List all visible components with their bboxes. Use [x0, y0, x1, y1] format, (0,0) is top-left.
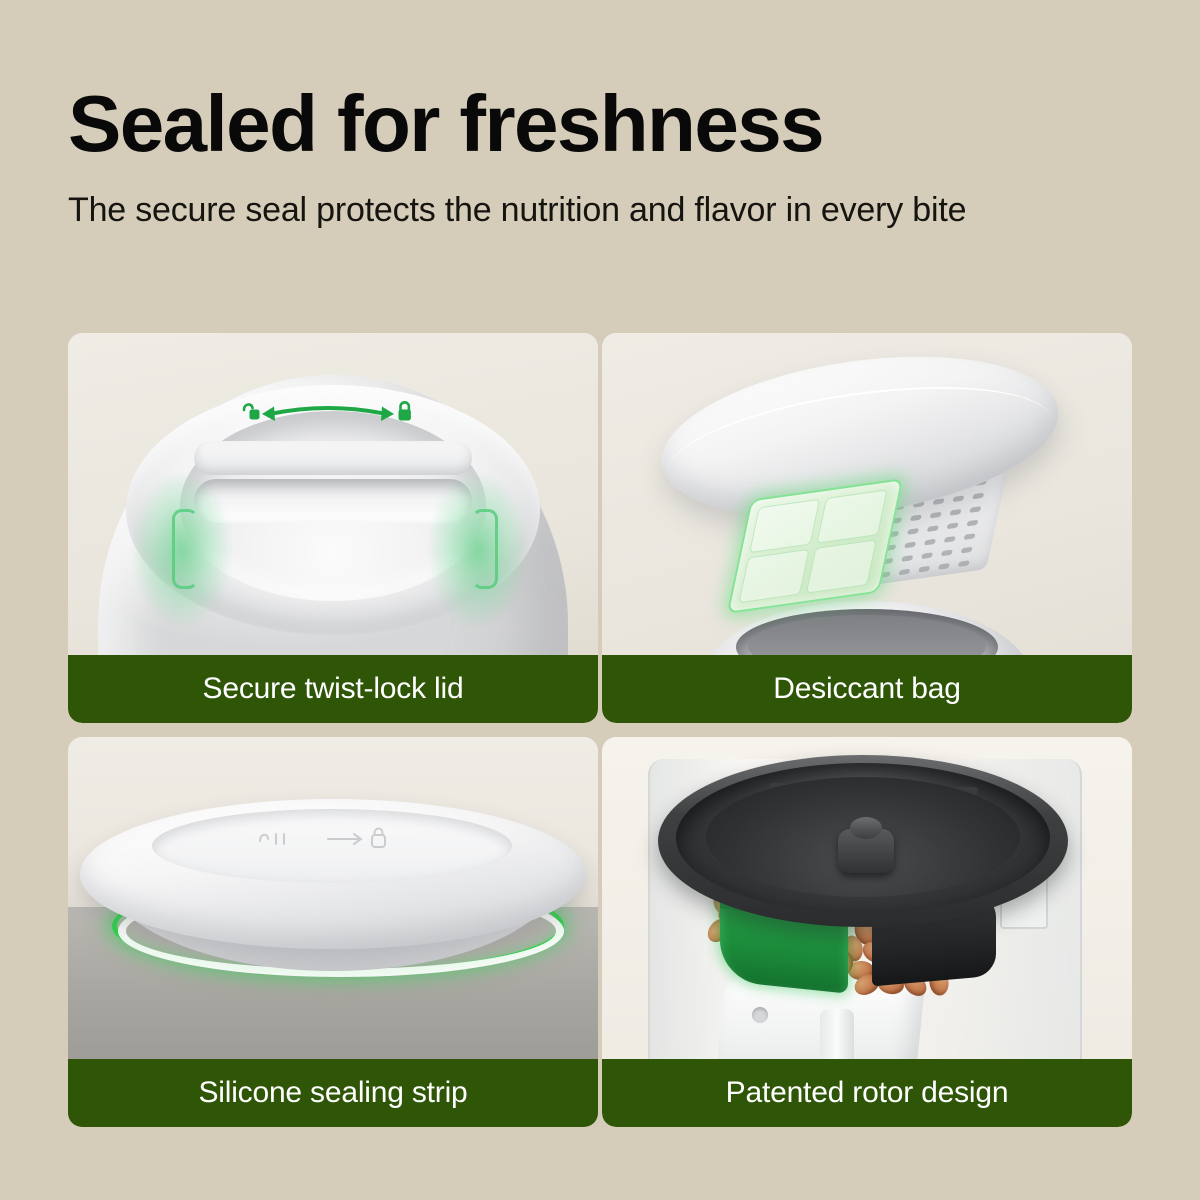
feature-grid: Secure twist-lock lid	[68, 333, 1132, 1133]
desiccant-cell	[738, 549, 809, 603]
lock-indicator-row	[238, 397, 418, 431]
curved-double-arrow	[262, 407, 394, 422]
caption-label: Desiccant bag	[773, 672, 961, 706]
perforation-slot	[966, 520, 978, 527]
desiccant-cell	[806, 539, 877, 593]
caption-label: Silicone sealing strip	[198, 1076, 467, 1110]
perforation-slot	[941, 550, 953, 557]
perforation-slot	[898, 569, 910, 576]
lid-handle-upper-shape	[194, 441, 472, 475]
page-title: Sealed for freshness	[68, 84, 1088, 164]
unlock-icon	[244, 404, 253, 410]
desiccant-cell	[749, 499, 820, 553]
rotor-hub-cap	[850, 817, 882, 839]
perforation-slot	[952, 495, 964, 502]
caption-bar-secure-twist-lock-lid: Secure twist-lock lid	[68, 655, 598, 723]
perforation-slot	[910, 515, 922, 522]
caption-bar-patented-rotor-design: Patented rotor design	[602, 1059, 1132, 1127]
feature-card-silicone-sealing-strip: Silicone sealing strip	[68, 737, 598, 1127]
perforation-slot	[969, 506, 981, 513]
feature-card-patented-rotor-design: Patented rotor design	[602, 737, 1132, 1127]
caption-bar-desiccant-bag: Desiccant bag	[602, 655, 1132, 723]
feature-card-desiccant-bag: Desiccant bag	[602, 333, 1132, 723]
header-block: Sealed for freshness The secure seal pro…	[68, 84, 1088, 233]
desiccant-cell	[816, 489, 887, 543]
perforation-slot	[904, 542, 916, 549]
perforation-slot	[901, 555, 913, 562]
feature-card-secure-twist-lock-lid: Secure twist-lock lid	[68, 333, 598, 723]
caption-bar-silicone-sealing-strip: Silicone sealing strip	[68, 1059, 598, 1127]
twist-direction-arrow-icon	[238, 397, 418, 431]
perforation-slot	[958, 560, 970, 567]
perforation-slot	[918, 566, 930, 573]
perforation-slot	[972, 493, 984, 500]
perforation-slot	[944, 536, 956, 543]
perforation-slot	[933, 498, 945, 505]
embossed-lock-symbols-icon	[254, 825, 414, 851]
twist-tab-right	[472, 509, 498, 589]
perforation-slot	[930, 512, 942, 519]
perforation-slot	[961, 547, 973, 554]
lock-icon	[399, 402, 411, 420]
caption-label: Patented rotor design	[726, 1076, 1009, 1110]
page-subtitle: The secure seal protects the nutrition a…	[68, 188, 1008, 233]
perforation-slot	[907, 528, 919, 535]
perforation-slot	[950, 509, 962, 516]
perforation-slot	[964, 533, 976, 540]
perforation-slot	[924, 539, 936, 546]
unlock-icon-body	[250, 410, 260, 420]
perforation-slot	[947, 522, 959, 529]
perforation-slot	[927, 525, 939, 532]
perforation-slot	[921, 552, 933, 559]
marketing-infographic: Sealed for freshness The secure seal pro…	[0, 0, 1200, 1200]
chute-hole	[752, 1007, 768, 1023]
caption-label: Secure twist-lock lid	[203, 672, 464, 706]
perforation-slot	[938, 563, 950, 570]
twist-tab-left	[172, 509, 198, 589]
